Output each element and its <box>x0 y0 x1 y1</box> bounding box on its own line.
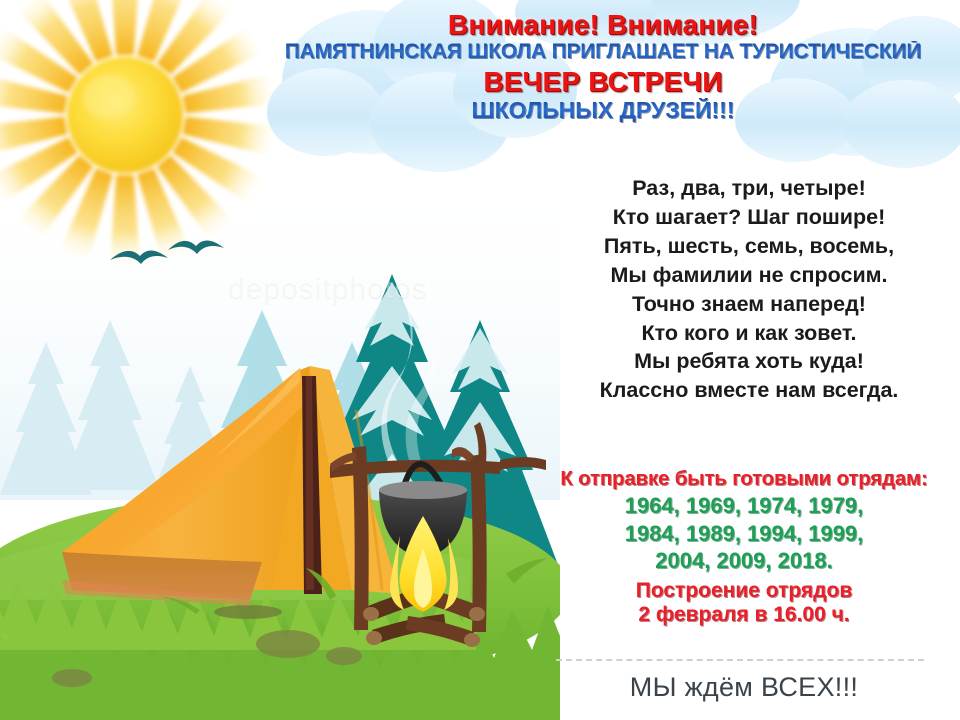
poem-line: Раз, два, три, четыре! <box>540 174 958 203</box>
closing-line: МЫ ждём ВСЕХ!!! <box>530 672 958 703</box>
announcement-block: К отправке быть готовыми отрядам: 1964, … <box>530 468 958 627</box>
poster-header: Внимание! Внимание! ПАМЯТНИНСКАЯ ШКОЛА П… <box>250 10 956 122</box>
announcement-years-line-2: 1984, 1989, 1994, 1999, <box>530 522 958 547</box>
divider-line <box>556 659 924 661</box>
camp-scene <box>0 170 560 720</box>
poem-line: Пять, шесть, семь, восемь, <box>540 232 958 261</box>
header-school-line: ПАМЯТНИНСКАЯ ШКОЛА ПРИГЛАШАЕТ НА ТУРИСТИ… <box>250 41 956 63</box>
announcement-build-label: Построение отрядов <box>530 579 958 603</box>
announcement-ready-label: К отправке быть готовыми отрядам: <box>530 468 958 491</box>
poem-line: Точно знаем наперед! <box>540 290 958 319</box>
poem-line: Кто шагает? Шаг пошире! <box>540 203 958 232</box>
poster-canvas: depositphotos Внимание! Внимание! ПАМЯТН… <box>0 0 960 720</box>
header-friends-wrap: ШКОЛЬНЫХ ДРУЗЕЙ!!! <box>250 98 956 122</box>
announcement-years-line-3: 2004, 2009, 2018. <box>530 549 958 574</box>
header-attention-line: Внимание! Внимание! <box>250 10 956 40</box>
poem-line: Кто кого и как зовет. <box>540 319 958 348</box>
poem-line: Мы ребята хоть куда! <box>540 347 958 376</box>
poem-block: Раз, два, три, четыре! Кто шагает? Шаг п… <box>540 174 958 405</box>
announcement-date-label: 2 февраля в 16.00 ч. <box>530 603 958 627</box>
header-school-wrap: ПАМЯТНИНСКАЯ ШКОЛА ПРИГЛАШАЕТ НА ТУРИСТИ… <box>250 41 956 63</box>
poem-line: Мы фамилии не спросим. <box>540 261 958 290</box>
poem-line: Классно вместе нам всегда. <box>540 376 958 405</box>
header-friends-line: ШКОЛЬНЫХ ДРУЗЕЙ!!! <box>250 98 956 122</box>
announcement-years-line-1: 1964, 1969, 1974, 1979, <box>530 494 958 519</box>
header-evening-line: ВЕЧЕР ВСТРЕЧИ <box>250 67 956 97</box>
